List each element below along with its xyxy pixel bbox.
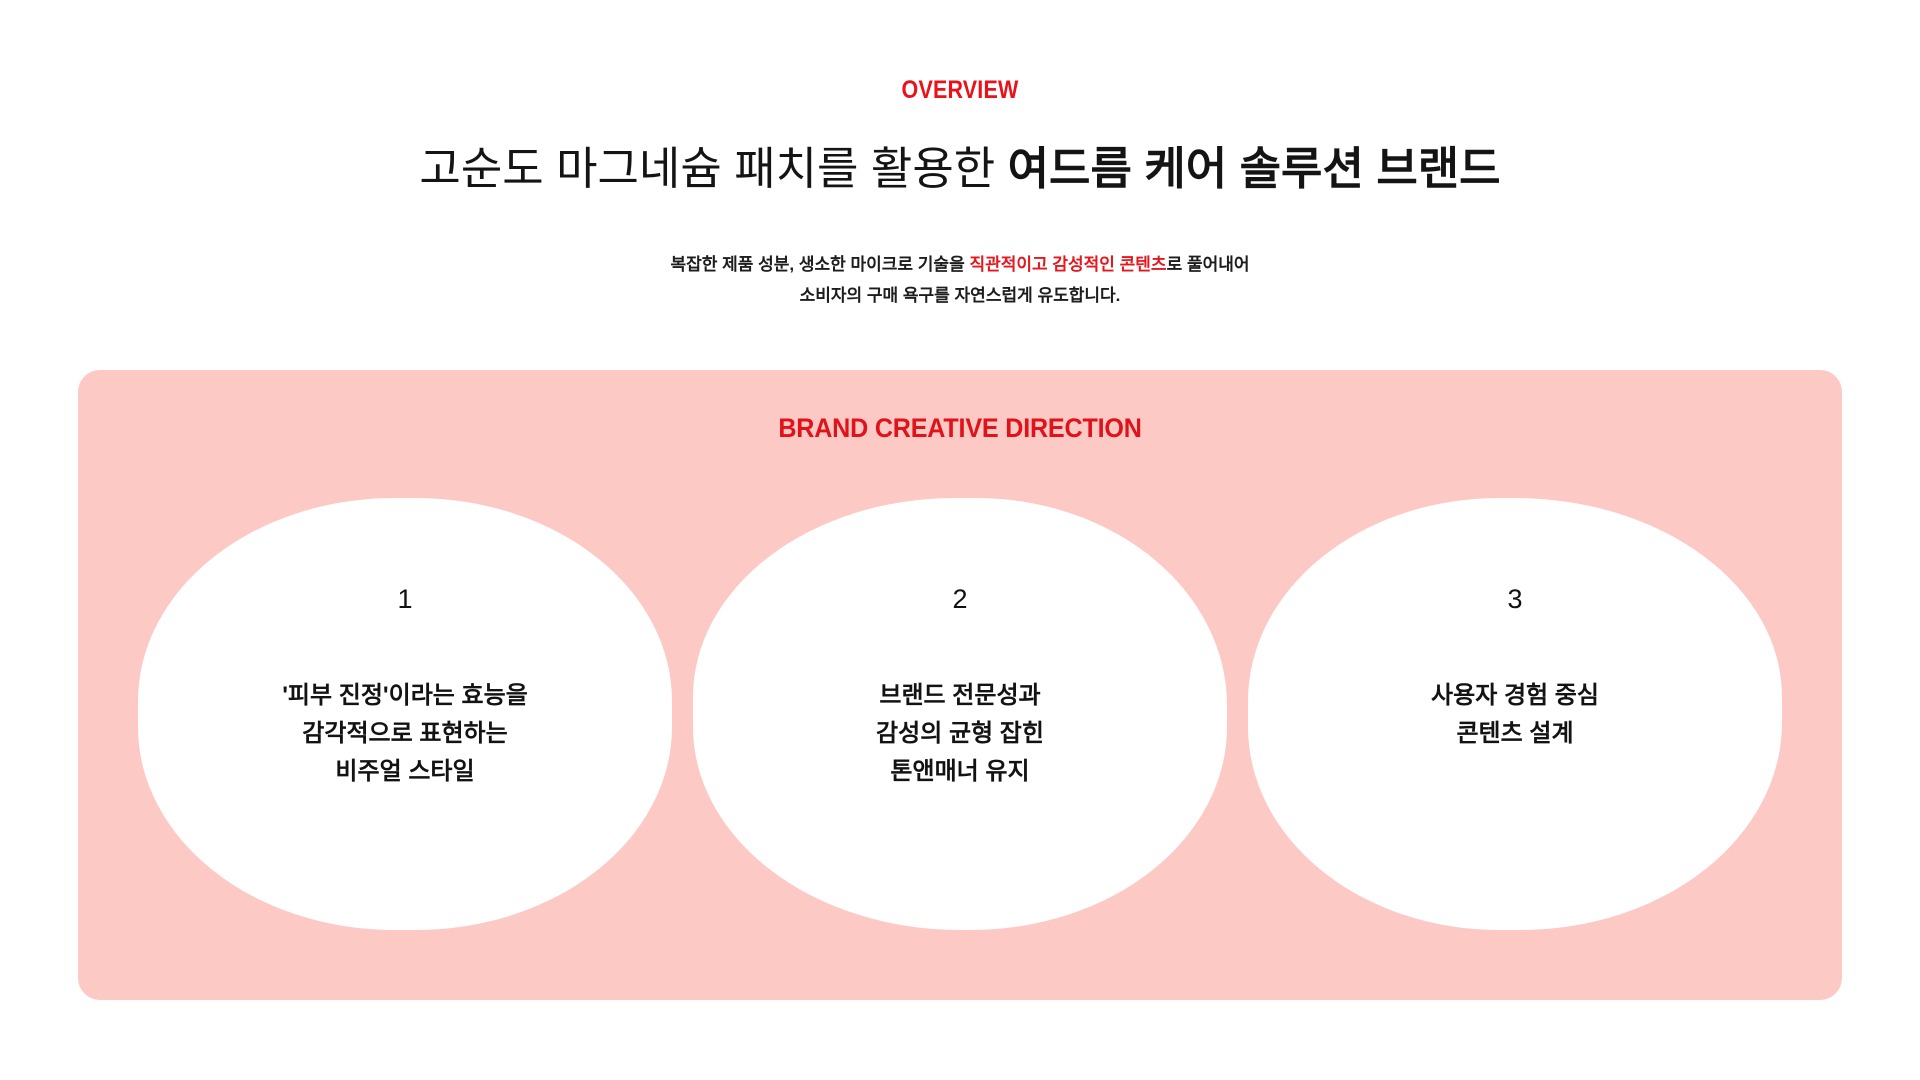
direction-card-text-line: 사용자 경험 중심 [1431, 677, 1599, 715]
direction-card-1[interactable]: 1 '피부 진정'이라는 효능을 감각적으로 표현하는 비주얼 스타일 [138, 498, 672, 930]
direction-card-text: '피부 진정'이라는 효능을 감각적으로 표현하는 비주얼 스타일 [282, 677, 528, 791]
page-title: 고순도 마그네슘 패치를 활용한 여드름 케어 솔루션 브랜드 [0, 140, 1920, 198]
direction-card-number: 3 [1507, 586, 1522, 613]
direction-card-number: 1 [397, 586, 412, 613]
page-title-light-part: 고순도 마그네슘 패치를 활용한 [419, 143, 1007, 194]
direction-card-3[interactable]: 3 사용자 경험 중심 콘텐츠 설계 [1248, 498, 1782, 930]
direction-card-2[interactable]: 2 브랜드 전문성과 감성의 균형 잡힌 톤앤매너 유지 [693, 498, 1227, 930]
direction-card-text: 사용자 경험 중심 콘텐츠 설계 [1431, 677, 1599, 753]
page-subtitle: 복잡한 제품 성분, 생소한 마이크로 기술을 직관적이고 감성적인 콘텐츠로 … [0, 250, 1920, 312]
direction-card-text-line: '피부 진정'이라는 효능을 [282, 677, 528, 715]
brand-direction-panel: BRAND CREATIVE DIRECTION 1 '피부 진정'이라는 효능… [78, 370, 1842, 1000]
direction-card-text-line: 톤앤매너 유지 [876, 753, 1044, 791]
direction-card-text-line: 브랜드 전문성과 [876, 677, 1044, 715]
page-subtitle-line-2: 소비자의 구매 욕구를 자연스럽게 유도합니다. [0, 281, 1920, 312]
direction-card-text-line: 콘텐츠 설계 [1431, 715, 1599, 753]
slide-canvas: OVERVIEW 고순도 마그네슘 패치를 활용한 여드름 케어 솔루션 브랜드… [0, 0, 1920, 1080]
page-subtitle-text-before-accent: 복잡한 제품 성분, 생소한 마이크로 기술을 [670, 255, 969, 274]
page-subtitle-line-1: 복잡한 제품 성분, 생소한 마이크로 기술을 직관적이고 감성적인 콘텐츠로 … [0, 250, 1920, 281]
page-title-bold-part: 여드름 케어 솔루션 브랜드 [1008, 143, 1501, 194]
page-subtitle-accent-text: 직관적이고 감성적인 콘텐츠 [969, 255, 1166, 274]
direction-card-text-line: 감성의 균형 잡힌 [876, 715, 1044, 753]
direction-card-text: 브랜드 전문성과 감성의 균형 잡힌 톤앤매너 유지 [876, 677, 1044, 791]
direction-card-text-line: 비주얼 스타일 [282, 753, 528, 791]
brand-direction-panel-title: BRAND CREATIVE DIRECTION [140, 413, 1781, 444]
direction-card-text-line: 감각적으로 표현하는 [282, 715, 528, 753]
page-subtitle-text-after-accent: 로 풀어내어 [1167, 255, 1250, 274]
direction-card-number: 2 [952, 586, 967, 613]
direction-card-list: 1 '피부 진정'이라는 효능을 감각적으로 표현하는 비주얼 스타일 2 브랜… [138, 498, 1782, 933]
section-eyebrow-label: OVERVIEW [134, 76, 1785, 105]
